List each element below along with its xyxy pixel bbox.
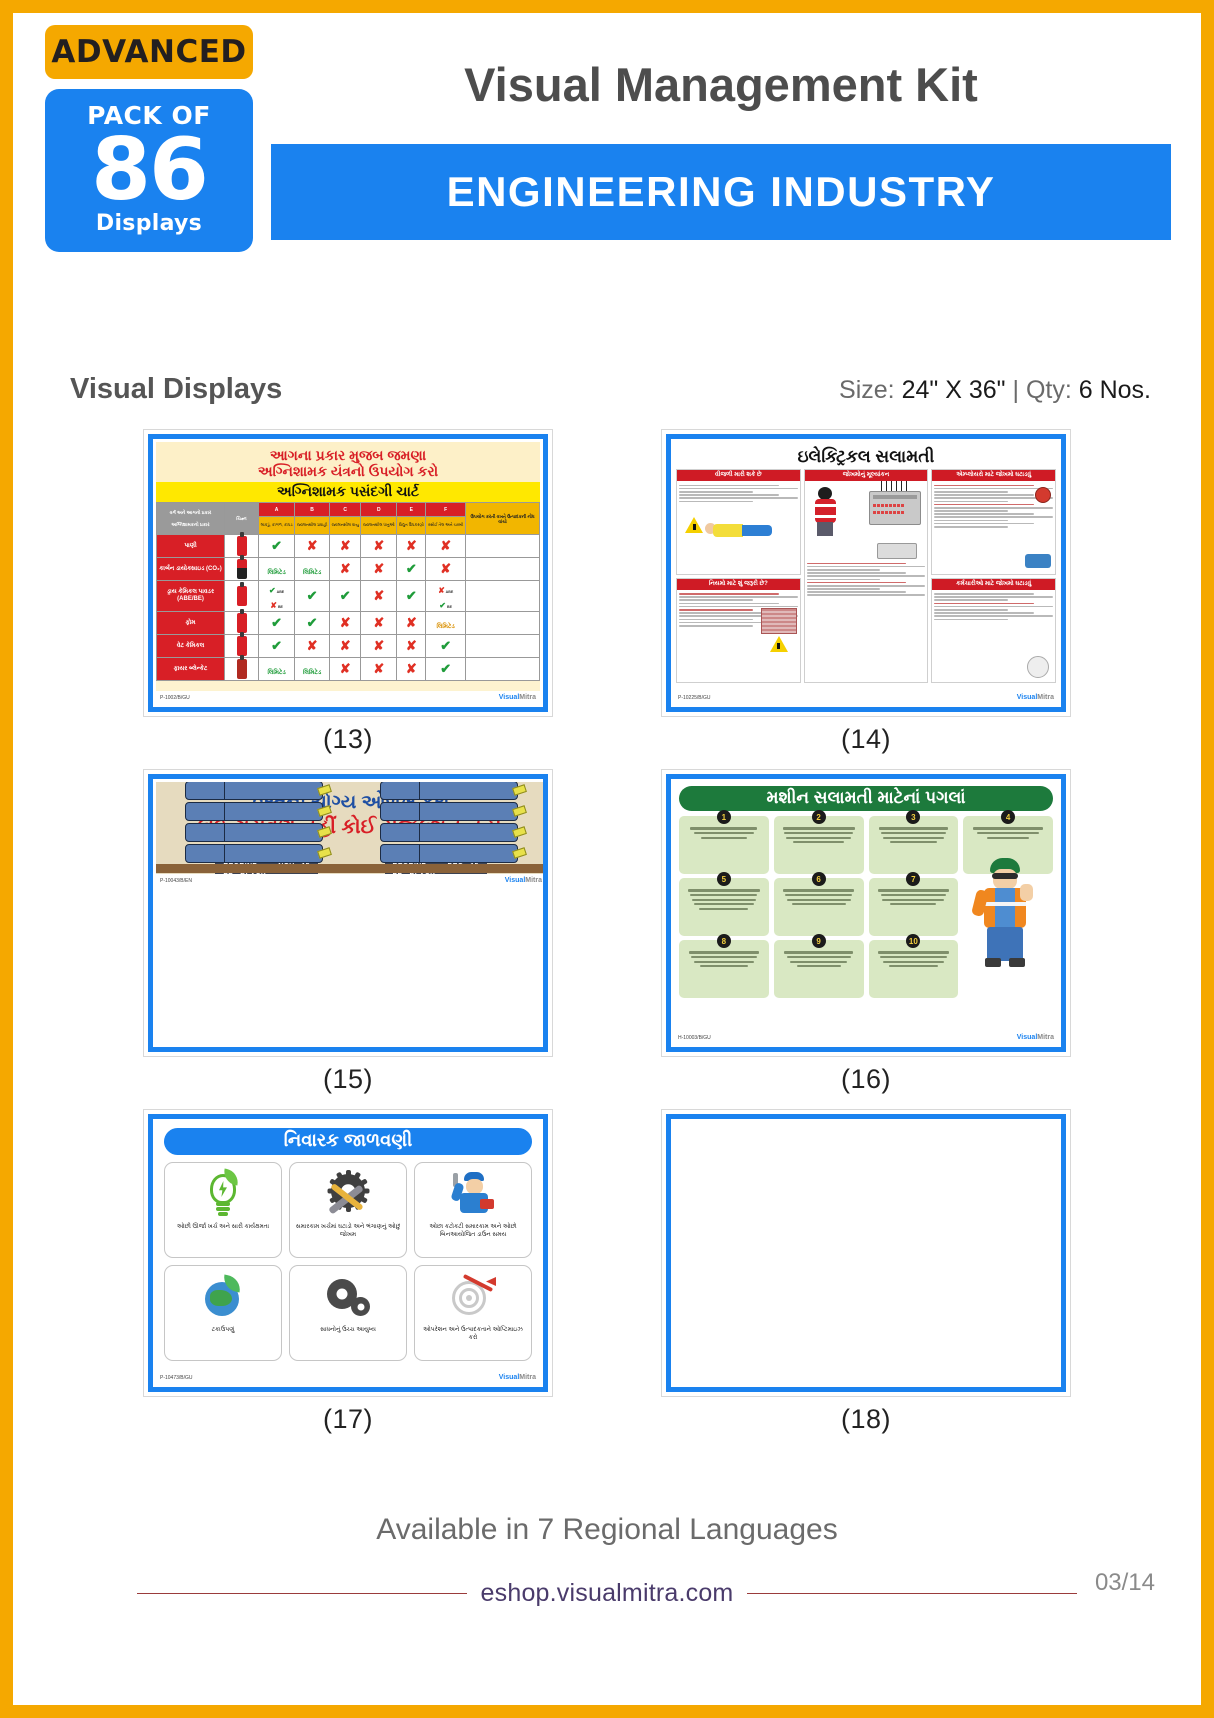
table-row: પાણી ✔ ✘ ✘ ✘ ✘ ✘ xyxy=(157,535,540,558)
gears-icon xyxy=(325,1270,371,1326)
poster-grid: આગના પ્રકાર મુજબ જમણા અગ્નિશામક યંત્રનો … xyxy=(13,429,1201,1435)
poster-cell-13: આગના પ્રકાર મુજબ જમણા અગ્નિશામક યંત્રનો … xyxy=(89,429,607,755)
step-card: 2 xyxy=(774,816,864,874)
brand-logo: VisualMitra xyxy=(1017,694,1054,701)
tile-caption: ઓછા કટોકટી સમારકામ અને ઓછો બિનઆયોજિત ડાઉ… xyxy=(417,1223,529,1239)
poster-code-strip: P-10225/B/GU VisualMitra xyxy=(674,691,1058,704)
assessment-illustration xyxy=(807,483,926,561)
panel-body xyxy=(932,590,1055,683)
poster-content-13: આગના પ્રકાર મુજબ જમણા અગ્નિશામક યંત્રનો … xyxy=(156,442,540,704)
benefit-tile: સમારકામ ખર્ચમાં ઘટાડો અને ભંગાણનું ઓછું … xyxy=(289,1162,407,1258)
poster-17-title: નિવારક જાળવણી xyxy=(164,1128,532,1155)
text-lines xyxy=(807,563,926,596)
poster-cell-18: ક્યારેય સલામતીનાં નિયમોનું ઉલંઘન ન કરો, … xyxy=(607,1109,1125,1435)
size-qty-separator: | xyxy=(1012,376,1019,404)
available-languages-note: Available in 7 Regional Languages xyxy=(13,1513,1201,1547)
panel-heading: જોખમોનું મૂલ્યાંકન xyxy=(805,470,928,481)
badge-column: ADVANCED PACK OF 86 Displays xyxy=(45,25,253,252)
panel: નિયમો માટે શું જરૂરી છે? xyxy=(676,578,801,684)
page-header: ADVANCED PACK OF 86 Displays Visual Mana… xyxy=(13,13,1201,313)
step-text xyxy=(683,827,765,838)
step-text xyxy=(683,889,765,910)
poster-content-15: વસ્તુની યોગ્ય ઓળખ કરો કોઈ ગૂંચવણ નહીં કો… xyxy=(156,782,546,887)
step-text xyxy=(873,889,955,905)
industry-banner: ENGINEERING INDUSTRY xyxy=(271,144,1171,240)
poster-cell-14: ઇલેક્ટ્રિકલ સલામતી વીજળી મારી શકે છે xyxy=(607,429,1125,755)
brand-logo: VisualMitra xyxy=(505,877,542,884)
poster-caption-17: (17) xyxy=(323,1404,373,1435)
panel-body xyxy=(677,481,800,574)
visual-displays-label: Visual Displays xyxy=(70,373,282,406)
poster-cell-15: વસ્તુની યોગ્ય ઓળખ કરો કોઈ ગૂંચવણ નહીં કો… xyxy=(89,769,607,1095)
step-text xyxy=(778,889,860,905)
target-dart-icon xyxy=(450,1270,496,1326)
panel: જોખમોનું મૂલ્યાંકન xyxy=(804,469,929,683)
poster-thumbnail-13[interactable]: આગના પ્રકાર મુજબ જમણા અગ્નિશામક યંત્રનો … xyxy=(143,429,553,717)
benefit-tile: ઓછા કટોકટી સમારકામ અને ઓછો બિનઆયોજિત ડાઉ… xyxy=(414,1162,532,1258)
tile-caption: સમારકામ ખર્ચમાં ઘટાડો અને ભંગાણનું ઓછું … xyxy=(292,1223,404,1239)
poster-code: P-10225/B/GU xyxy=(678,695,711,701)
pack-count-number: 86 xyxy=(45,129,253,212)
worker-figure xyxy=(976,858,1034,970)
poster-16-title: મશીન સલામતી માટેનાં પગલાં xyxy=(679,786,1053,811)
green-globe-icon xyxy=(203,1270,243,1326)
panel-body xyxy=(677,590,800,683)
step-card: 7 xyxy=(869,878,959,936)
danger-triangle-icon xyxy=(685,517,703,533)
panel-body xyxy=(932,481,1055,574)
poster-caption-13: (13) xyxy=(323,724,373,755)
text-lines xyxy=(679,485,798,503)
step-number: 4 xyxy=(1001,810,1015,824)
extinguisher-icon xyxy=(225,658,259,681)
step-card: 8 xyxy=(679,940,769,998)
displays-label: Displays xyxy=(45,212,253,236)
bale-stack xyxy=(185,782,323,865)
poster-thumbnail-18[interactable]: ક્યારેય સલામતીનાં નિયમોનું ઉલંઘન ન કરો, … xyxy=(661,1109,1071,1397)
table-header-row: વર્ગ અને આગનો પ્રકાર અગ્નિશામકનો પ્રકાર … xyxy=(157,503,540,517)
step-text xyxy=(778,827,860,843)
emergency-stop-icon xyxy=(1035,487,1051,503)
benefit-tiles: ઓછી ઊર્જા ખર્ચ અને સારી કાર્યક્ષમતા xyxy=(164,1162,532,1361)
step-number: 9 xyxy=(812,934,826,948)
poster-thumbnail-16[interactable]: મશીન સલામતી માટેનાં પગલાં 1 2 xyxy=(661,769,1071,1057)
tool-icon xyxy=(1025,554,1051,568)
technician-icon xyxy=(452,1167,494,1223)
poster-content-14: ઇલેક્ટ્રિકલ સલામતી વીજળી મારી શકે છે xyxy=(674,442,1058,704)
step-card: 5 xyxy=(679,878,769,936)
table-row: ફાયર બ્લેન્કેટ લિમિટેડ લિમિટેડ ✘ ✘ ✘ ✔ xyxy=(157,658,540,681)
step-number: 8 xyxy=(717,934,731,948)
poster-13-title: આગના પ્રકાર મુજબ જમણા અગ્નિશામક યંત્રનો … xyxy=(156,442,540,482)
panel: કર્મચારીઓ માટે જોખમો ઘટાડવું xyxy=(931,578,1056,684)
poster-border-16: મશીન સલામતી માટેનાં પગલાં 1 2 xyxy=(666,774,1066,1052)
tile-caption: ઓછી ઊર્જા ખર્ચ અને સારી કાર્યક્ષમતા xyxy=(175,1223,271,1231)
poster-cell-16: મશીન સલામતી માટેનાં પગલાં 1 2 xyxy=(607,769,1125,1095)
poster-border-14: ઇલેક્ટ્રિકલ સલામતી વીજળી મારી શકે છે xyxy=(666,434,1066,712)
poster-14-title: ઇલેક્ટ્રિકલ સલામતી xyxy=(676,444,1056,469)
pack-count-badge: PACK OF 86 Displays xyxy=(45,89,253,252)
danger-triangle-icon xyxy=(770,636,788,652)
title-column: Visual Management Kit ENGINEERING INDUST… xyxy=(271,57,1171,240)
poster-code: P-1002/B/GU xyxy=(160,695,190,701)
bale-stack xyxy=(380,782,518,865)
plug-strip-icon xyxy=(877,543,917,559)
poster-border-13: આગના પ્રકાર મુજબ જમણા અગ્નિશામક યંત્રનો … xyxy=(148,434,548,712)
material-stacks xyxy=(156,782,546,865)
poster-code-strip: H-10003/B/GU VisualMitra xyxy=(674,1031,1058,1044)
hazard-photo xyxy=(761,608,797,634)
extinguisher-icon xyxy=(225,581,259,612)
poster-thumbnail-14[interactable]: ઇલેક્ટ્રિકલ સલામતી વીજળી મારી શકે છે xyxy=(661,429,1071,717)
poster-caption-18: (18) xyxy=(841,1404,891,1435)
poster-code: H-10003/B/GU xyxy=(678,1035,711,1041)
poster-caption-16: (16) xyxy=(841,1064,891,1095)
poster-thumbnail-17[interactable]: નિવારક જાળવણી ઓછી ઊર્જા ખર્ચ અને સારી કા… xyxy=(143,1109,553,1397)
step-card: 9 xyxy=(774,940,864,998)
step-number: 3 xyxy=(906,810,920,824)
panel-heading: નિયમો માટે શું જરૂરી છે? xyxy=(677,579,800,590)
panel-body xyxy=(805,481,928,682)
panel: વીજળી મારી શકે છે xyxy=(676,469,801,575)
page-title: Visual Management Kit xyxy=(271,57,1171,112)
fallen-worker-figure xyxy=(713,521,775,539)
table-row: ડ્રાય કેમિકલ પાવડર (ABE/BE) ✔ ABE✘ BE ✔ … xyxy=(157,581,540,612)
page-footer: eshop.visualmitra.com xyxy=(137,1579,1077,1608)
qty-label: Qty: xyxy=(1026,376,1072,404)
tile-caption: ઓપરેશન અને ઉત્પાદકતાને ઓપ્ટિમાઇઝ કરો xyxy=(417,1326,529,1342)
brand-logo: VisualMitra xyxy=(499,1374,536,1381)
footer-rule-right xyxy=(747,1593,1077,1594)
inspector-figure xyxy=(813,487,839,537)
poster-code: P-10473/B/GU xyxy=(160,1375,193,1381)
poster-caption-15: (15) xyxy=(323,1064,373,1095)
benefit-tile: ટકાઉપણું xyxy=(164,1265,282,1361)
electrocution-illustration xyxy=(679,505,798,557)
meter-icon xyxy=(1027,656,1049,678)
poster-border-15: વસ્તુની યોગ્ય ઓળખ કરો કોઈ ગૂંચવણ નહીં કો… xyxy=(148,774,548,1052)
step-card: 6 xyxy=(774,878,864,936)
tile-caption: સાધનોનું ઉચ્ચ આયુષ્ય xyxy=(318,1326,378,1334)
panel-heading: વીજળી મારી શકે છે xyxy=(677,470,800,481)
step-text xyxy=(778,951,860,967)
poster-thumbnail-15[interactable]: વસ્તુની યોગ્ય ઓળખ કરો કોઈ ગૂંચવણ નહીં કો… xyxy=(143,769,553,1057)
panel: એમ્પ્લોયરો માટે જોખમો ઘટાડવું xyxy=(931,469,1056,575)
worker-illustration xyxy=(962,854,1050,974)
poster-content-16: મશીન સલામતી માટેનાં પગલાં 1 2 xyxy=(674,782,1058,1044)
step-number: 10 xyxy=(906,934,920,948)
page-orange-frame: ADVANCED PACK OF 86 Displays Visual Mana… xyxy=(0,0,1214,1718)
step-text xyxy=(683,951,765,967)
panel-heading: એમ્પ્લોયરો માટે જોખમો ઘટાડવું xyxy=(932,470,1055,481)
poster-caption-14: (14) xyxy=(841,724,891,755)
step-number: 1 xyxy=(717,810,731,824)
page-canvas: ADVANCED PACK OF 86 Displays Visual Mana… xyxy=(13,13,1201,1705)
gear-tools-icon xyxy=(324,1167,372,1223)
step-number: 5 xyxy=(717,872,731,886)
step-card: 1 xyxy=(679,816,769,874)
eco-bulb-icon xyxy=(206,1167,240,1223)
text-lines xyxy=(934,593,1053,620)
poster-13-subtitle: અગ્નિશામક પસંદગી ચાર્ટ xyxy=(156,482,540,502)
page-number: 03/14 xyxy=(1095,1569,1155,1597)
step-text xyxy=(873,951,955,967)
poster-border-17: નિવારક જાળવણી ઓછી ઊર્જા ખર્ચ અને સારી કા… xyxy=(148,1114,548,1392)
poster-border-18: ક્યારેય સલામતીનાં નિયમોનું ઉલંઘન ન કરો, … xyxy=(666,1114,1066,1392)
size-value: 24" X 36" xyxy=(902,376,1006,404)
tile-caption: ટકાઉપણું xyxy=(210,1326,237,1334)
advanced-badge: ADVANCED xyxy=(45,25,253,79)
electrical-panel-icon xyxy=(869,491,921,525)
benefit-tile: ઓછી ઊર્જા ખર્ચ અને સારી કાર્યક્ષમતા xyxy=(164,1162,282,1258)
step-card: 3 xyxy=(869,816,959,874)
brand-logo: VisualMitra xyxy=(499,694,536,701)
step-number: 7 xyxy=(906,872,920,886)
floor-band xyxy=(156,864,546,873)
step-text xyxy=(967,827,1049,838)
table-row: ફોમ ✔ ✔ ✘ ✘ ✘ લિમિટેડ xyxy=(157,612,540,635)
poster-code-strip: P-1002/B/GU VisualMitra xyxy=(156,691,540,704)
qty-value: 6 Nos. xyxy=(1079,376,1151,404)
poster-14-columns: વીજળી મારી શકે છે xyxy=(676,469,1056,683)
subheader-row: Visual Displays Size: 24" X 36" | Qty: 6… xyxy=(13,373,1201,406)
poster-code-strip: P-10043/B/EN VisualMitra xyxy=(156,874,546,887)
size-qty-info: Size: 24" X 36" | Qty: 6 Nos. xyxy=(839,376,1151,405)
extinguisher-icon xyxy=(225,558,259,581)
table-row: વેટ કેમિકલ ✔ ✘ ✘ ✘ ✘ ✔ xyxy=(157,635,540,658)
poster-cell-17: નિવારક જાળવણી ઓછી ઊર્જા ખર્ચ અને સારી કા… xyxy=(89,1109,607,1435)
poster-code-strip: P-10473/B/GU VisualMitra xyxy=(156,1371,540,1384)
step-text xyxy=(873,827,955,843)
step-number: 2 xyxy=(812,810,826,824)
step-number: 6 xyxy=(812,872,826,886)
panel-heading: કર્મચારીઓ માટે જોખમો ઘટાડવું xyxy=(932,579,1055,590)
footer-rule-left xyxy=(137,1593,467,1594)
poster-14-col-right: એમ્પ્લોયરો માટે જોખમો ઘટાડવું xyxy=(931,469,1056,683)
size-label: Size: xyxy=(839,376,895,404)
poster-14-col-mid: જોખમોનું મૂલ્યાંકન xyxy=(804,469,929,683)
brand-logo: VisualMitra xyxy=(1017,1034,1054,1041)
poster-code: P-10043/B/EN xyxy=(160,878,192,884)
benefit-tile: સાધનોનું ઉચ્ચ આયુષ્ય xyxy=(289,1265,407,1361)
poster-content-17: નિવારક જાળવણી ઓછી ઊર્જા ખર્ચ અને સારી કા… xyxy=(156,1122,540,1384)
website-link[interactable]: eshop.visualmitra.com xyxy=(467,1579,748,1608)
industry-label: ENGINEERING INDUSTRY xyxy=(447,168,996,216)
step-card: 10 xyxy=(869,940,959,998)
benefit-tile: ઓપરેશન અને ઉત્પાદકતાને ઓપ્ટિમાઇઝ કરો xyxy=(414,1265,532,1361)
poster-14-col-left: વીજળી મારી શકે છે xyxy=(676,469,801,683)
extinguisher-selection-table: વર્ગ અને આગનો પ્રકાર અગ્નિશામકનો પ્રકાર … xyxy=(156,502,540,681)
table-row: કાર્બન ડાયોક્સાઇડ (CO₂) લિમિટેડ લિમિટેડ … xyxy=(157,558,540,581)
